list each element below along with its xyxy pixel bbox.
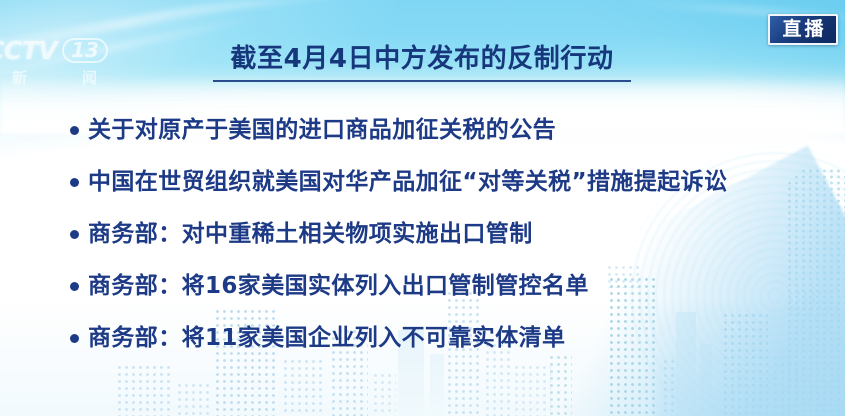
logo-sub-char-right: 闻 [82,67,98,88]
list-item-label: 商务部：将16家美国实体列入出口管制管控名单 [88,275,589,298]
live-badge-label: 直播 [779,20,826,39]
news-graphic-screen: CCTV 13 新 闻 直播 截至4月4日中方发布的反制行动 关于对原产于美国的… [0,0,845,416]
cctv13-logo: CCTV 13 新 闻 [0,34,116,92]
list-item: 商务部：对中重稀土相关物项实施出口管制 [70,208,825,260]
cctv13-logo-subtitle: 新 闻 [12,67,98,88]
list-item-label: 中国在世贸组织就美国对华产品加征“对等关税”措施提起诉讼 [88,171,727,194]
list-item: 关于对原产于美国的进口商品加征关税的公告 [70,104,825,156]
bullet-dot-icon [70,126,79,135]
title-underline [213,80,631,82]
cctv-wordmark: CCTV [0,36,57,65]
bullet-dot-icon [70,230,79,239]
list-item: 商务部：将11家美国企业列入不可靠实体清单 [70,312,825,364]
bullet-dot-icon [70,178,79,187]
bullet-dot-icon [70,334,79,343]
list-item-label: 商务部：将11家美国企业列入不可靠实体清单 [88,327,565,350]
bullet-dot-icon [70,282,79,291]
measures-list: 关于对原产于美国的进口商品加征关税的公告 中国在世贸组织就美国对华产品加征“对等… [70,104,825,364]
live-badge: 直播 [768,14,838,45]
list-item-label: 关于对原产于美国的进口商品加征关税的公告 [88,119,556,142]
channel-number-badge: 13 [62,38,108,63]
page-title: 截至4月4日中方发布的反制行动 [212,44,632,75]
list-item: 商务部：将16家美国实体列入出口管制管控名单 [70,260,825,312]
channel-number: 13 [71,38,99,62]
headline-block: 截至4月4日中方发布的反制行动 [212,44,632,82]
cctv13-logo-main: CCTV 13 [0,34,116,67]
list-item: 中国在世贸组织就美国对华产品加征“对等关税”措施提起诉讼 [70,156,825,208]
list-item-label: 商务部：对中重稀土相关物项实施出口管制 [88,223,533,246]
logo-sub-char-left: 新 [12,67,28,88]
